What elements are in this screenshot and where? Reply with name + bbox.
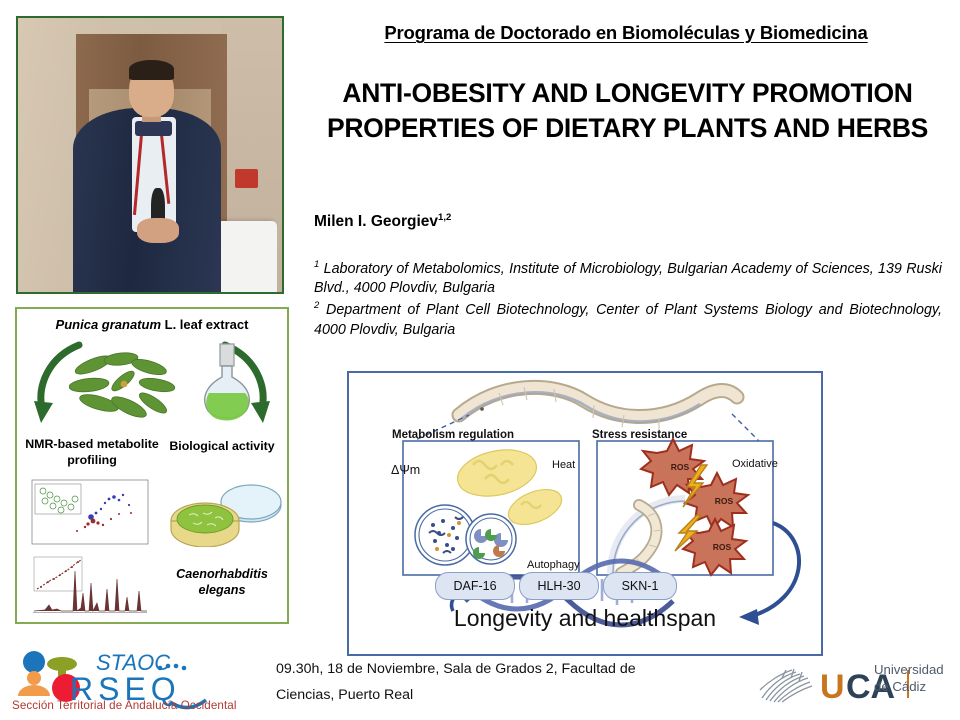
- speaker-photo: [16, 16, 284, 294]
- worm-top-graphic: [459, 387, 737, 431]
- autophagy-label: Autophagy: [527, 559, 580, 571]
- oxidative-label: Oxidative: [732, 458, 778, 470]
- affiliation-1-text: Laboratory of Metabolomics, Institute of…: [314, 261, 942, 297]
- photo-chair: [213, 221, 276, 292]
- affiliation-2-mark: 2: [314, 300, 319, 311]
- uca-name-line-2: de Cádiz: [874, 679, 944, 696]
- heat-label: Heat: [552, 459, 575, 471]
- celegans-label: Caenorhabditis elegans: [157, 567, 287, 598]
- photo-hands: [137, 218, 179, 243]
- uca-name-line-1: Universidad: [874, 662, 944, 679]
- event-info: 09.30h, 18 de Noviembre, Sala de Grados …: [276, 656, 746, 709]
- nmr-spectrum-plot: [31, 553, 149, 615]
- graphical-abstract-title: Punica granatum L. leaf extract: [17, 317, 287, 332]
- ros-label-3: ROS: [702, 527, 742, 567]
- rseq-person-orange-head: [27, 671, 41, 685]
- species-name-italic: Punica granatum: [56, 317, 161, 332]
- tf-hlh30-badge: HLH-30: [519, 572, 599, 600]
- biological-activity-label: Biological activity: [157, 439, 287, 453]
- photo-hair: [129, 60, 174, 79]
- pomegranate-leaves-icon: [69, 347, 177, 425]
- affiliation-2: 2 Department of Plant Cell Biotechnology…: [314, 299, 942, 340]
- tf-skn1-badge: SKN-1: [603, 572, 677, 600]
- author-affiliation-marks: 1,2: [438, 212, 451, 223]
- rseq-person-orange-body: [18, 685, 50, 696]
- programa-heading: Programa de Doctorado en Biomoléculas y …: [296, 22, 956, 44]
- affiliation-2-text: Department of Plant Cell Biotechnology, …: [314, 302, 942, 338]
- mechanism-diagram-panel: Metabolism regulation Stress resistance …: [347, 371, 823, 656]
- metabolomics-scatter-plot: [31, 479, 149, 545]
- rseq-person-blue-head: [23, 651, 45, 673]
- uca-wheat-icon: [760, 669, 812, 702]
- tf-daf16-badge: DAF-16: [435, 572, 515, 600]
- affiliation-1: 1 Laboratory of Metabolomics, Institute …: [314, 258, 942, 299]
- author-name: Milen I. Georgiev1,2: [314, 212, 451, 231]
- metabolism-regulation-label: Metabolism regulation: [392, 429, 514, 441]
- nmr-profiling-label: NMR-based metabolite profiling: [25, 437, 159, 469]
- species-name-rest: L. leaf extract: [161, 317, 248, 332]
- graphical-abstract-panel: Punica granatum L. leaf extract NMR-base…: [15, 307, 289, 624]
- rseq-tagline: Sección Territorial de Andalucía Occiden…: [12, 699, 237, 712]
- event-info-line-1: 09.30h, 18 de Noviembre, Sala de Grados …: [276, 656, 746, 682]
- affiliation-1-mark: 1: [314, 259, 319, 270]
- affiliations: 1 Laboratory of Metabolomics, Institute …: [314, 258, 942, 340]
- photo-bowtie: [135, 121, 172, 136]
- photo-fire-alarm: [235, 169, 259, 188]
- ros-label-1: ROS: [660, 447, 700, 487]
- ros-label-2: ROS: [704, 481, 744, 521]
- longevity-outcome-label: Longevity and healthspan: [349, 605, 821, 632]
- page-title: ANTI-OBESITY AND LONGEVITY PROMOTION PRO…: [300, 76, 955, 146]
- rseq-person-olive-head: [47, 657, 77, 671]
- event-info-line-2: Ciencias, Puerto Real: [276, 682, 746, 708]
- erlenmeyer-flask-icon: [197, 341, 257, 427]
- uca-letter-u: U: [820, 668, 845, 706]
- petri-dish-icon: [163, 477, 283, 547]
- uca-name: Universidad de Cádiz: [874, 662, 944, 695]
- delta-psi-label: ΔΨm: [391, 463, 420, 477]
- author-name-text: Milen I. Georgiev: [314, 213, 438, 230]
- stress-resistance-label: Stress resistance: [592, 429, 687, 441]
